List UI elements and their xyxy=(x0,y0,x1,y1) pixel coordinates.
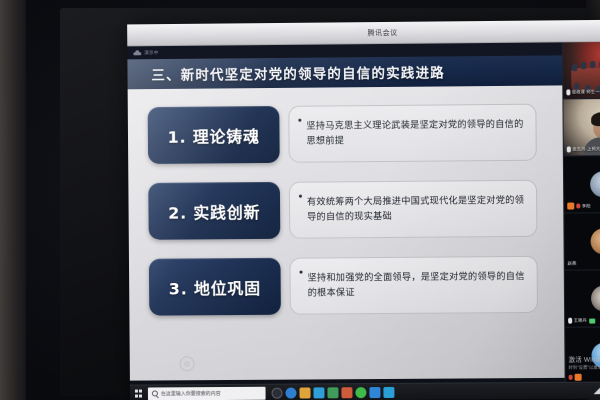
participant-label: 张志丹·上师大马院 xyxy=(567,146,600,152)
host-badge-icon xyxy=(574,374,581,381)
shared-screen-area: 演示中 三、新时代坚定对党的领导的自信的实践进路 1. 理论铸魂 xyxy=(127,42,564,400)
microphone-icon xyxy=(567,147,571,153)
participant-label: 李阳 xyxy=(567,202,590,209)
slide-row-body: 坚持马克思主义理论武装是坚定对党的领导的自信的思想前提 xyxy=(288,104,537,163)
presenting-label: 演示中 xyxy=(144,50,158,56)
slide-title-banner: 三、新时代坚定对党的领导的自信的实践进路 xyxy=(127,55,562,89)
avatar xyxy=(590,285,600,311)
slide-row-text: 坚持和加强党的全面领导，是坚定对党的领导的自信的根本保证 xyxy=(308,270,527,301)
slide-row: 2. 实践创新 有效统筹两个大局推进中国式现代化是坚定对党的领导的自信的现实基础 xyxy=(148,180,537,240)
microphone-muted-icon xyxy=(576,203,580,209)
room-photo-background: 腾讯会议 — ▢ ✕ 演示中 三、新时代坚定对党的领导的自信 xyxy=(0,0,600,400)
slide-row-text: 有效统筹两个大局推进中国式现代化是坚定对党的领导的自信的现实基础 xyxy=(307,193,526,225)
participant-name: 思政课 师生一体化课堂 xyxy=(572,89,600,95)
avatar xyxy=(590,171,600,197)
signal-icon xyxy=(589,318,595,323)
slide-row-tag: 1. 理论铸魂 xyxy=(148,106,280,164)
participant-name: 张志丹·上师大马院 xyxy=(572,146,600,152)
host-badge-icon xyxy=(567,202,574,209)
slide-row-body: 坚持和加强党的全面领导，是坚定对党的领导的自信的根本保证 xyxy=(289,256,538,315)
slide-watermark-logo: ☺ xyxy=(180,356,195,371)
microphone-muted-icon xyxy=(569,375,573,381)
slide-row-tag: 2. 实践创新 xyxy=(148,182,280,240)
tim-icon[interactable] xyxy=(383,386,394,397)
cloud-icon xyxy=(133,50,141,55)
edge-icon[interactable] xyxy=(285,387,296,398)
powerpoint-slide: 三、新时代坚定对党的领导的自信的实践进路 1. 理论铸魂 坚持马克思主义理论武装… xyxy=(127,55,564,380)
bullet-icon xyxy=(300,271,303,274)
bullet-icon xyxy=(298,119,301,122)
windows-taskbar[interactable]: 在这里输入你要搜索的内容 14:26 xyxy=(130,381,600,400)
slide-title: 三、新时代坚定对党的领导的自信的实践进路 xyxy=(151,61,445,84)
search-icon xyxy=(152,390,158,396)
avatar xyxy=(590,228,600,254)
start-glyph xyxy=(134,390,142,398)
excel-icon[interactable] xyxy=(327,387,338,398)
slide-row: 1. 理论铸魂 坚持马克思主义理论武装是坚定对党的领导的自信的思想前提 xyxy=(148,104,537,164)
slide-row-text: 坚持马克思主义理论武装是坚定对党的领导的自信的思想前提 xyxy=(306,117,525,149)
mail-icon[interactable] xyxy=(313,387,324,398)
slide-row: 3. 地位巩固 坚持和加强党的全面领导，是坚定对党的领导的自信的根本保证 xyxy=(149,256,538,316)
microphone-icon xyxy=(566,90,570,96)
participant-tile[interactable]: 激活 Windows 转到"设置"以激活 Windows。 xyxy=(565,327,600,385)
system-tray: 14:26 xyxy=(593,387,600,394)
cortana-icon[interactable] xyxy=(272,387,283,398)
window-title: 腾讯会议 xyxy=(368,27,398,37)
slide-row-body: 有效统筹两个大局推进中国式现代化是坚定对党的领导的自信的现实基础 xyxy=(289,180,538,239)
slide-content-rows: 1. 理论铸魂 坚持马克思主义理论武装是坚定对党的领导的自信的思想前提 2. 实… xyxy=(128,85,565,380)
monitor-bezel: 腾讯会议 — ▢ ✕ 演示中 三、新时代坚定对党的领导的自信 xyxy=(60,8,587,396)
search-input[interactable]: 在这里输入你要搜索的内容 xyxy=(148,386,266,400)
avatar xyxy=(591,342,600,368)
participant-tile[interactable]: 赵燕 xyxy=(564,213,600,271)
bullet-icon xyxy=(299,195,302,198)
participant-name: 赵燕 xyxy=(568,261,577,267)
participants-rail[interactable]: 思政课 师生一体化课堂 张志丹·上师大马院 xyxy=(562,42,600,399)
left-wall xyxy=(0,0,26,400)
meeting-app-body: 演示中 三、新时代坚定对党的领导的自信的实践进路 1. 理论铸魂 xyxy=(127,42,600,400)
participant-name: 王晓丹 xyxy=(574,318,587,324)
participant-tile-room[interactable]: 思政课 师生一体化课堂 xyxy=(563,42,600,100)
wechat-icon[interactable] xyxy=(355,387,366,398)
slide-row-tag-label: 3. 地位巩固 xyxy=(169,274,261,299)
powerpoint-icon[interactable] xyxy=(341,387,352,398)
participant-tile-speaker[interactable]: 张志丹·上师大马院 xyxy=(563,99,600,157)
participant-tile[interactable]: 李阳 xyxy=(564,156,600,214)
participant-label: 赵燕 xyxy=(568,261,577,267)
explorer-icon[interactable] xyxy=(299,387,310,398)
microphone-icon xyxy=(568,318,572,324)
search-placeholder: 在这里输入你要搜索的内容 xyxy=(161,390,221,397)
network-icon[interactable] xyxy=(593,387,600,394)
slide-row-tag-label: 1. 理论铸魂 xyxy=(168,123,260,148)
slide-row-tag-label: 2. 实践创新 xyxy=(168,198,260,223)
participant-label: 王晓丹 xyxy=(568,318,595,324)
windows-start-icon[interactable] xyxy=(130,385,147,400)
taskbar-app-icons xyxy=(272,386,395,398)
participant-tile[interactable]: 王晓丹 xyxy=(565,270,600,328)
participant-label xyxy=(569,374,582,381)
participant-label: 思政课 师生一体化课堂 xyxy=(566,89,600,95)
slide-row-tag: 3. 地位巩固 xyxy=(149,258,281,316)
speaker-hair xyxy=(591,112,600,126)
monitor-screen: 腾讯会议 — ▢ ✕ 演示中 三、新时代坚定对党的领导的自信 xyxy=(127,20,600,400)
participant-name: 李阳 xyxy=(582,203,591,209)
meeting-icon[interactable] xyxy=(369,387,380,398)
